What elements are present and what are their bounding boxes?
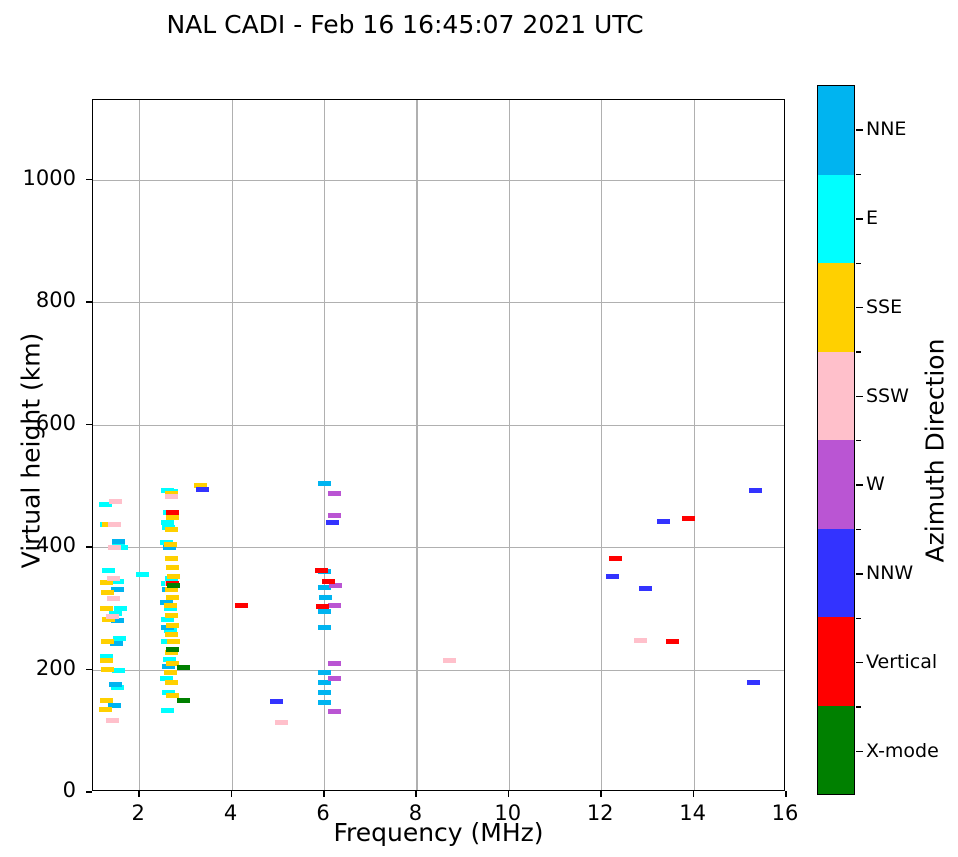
y-axis-tick-label: 0 (6, 778, 76, 802)
scatter-point (634, 638, 647, 643)
scatter-point (318, 700, 331, 705)
scatter-point (639, 586, 652, 591)
scatter-point (101, 667, 114, 672)
scatter-point (164, 603, 177, 608)
scatter-point (106, 718, 119, 723)
scatter-point (270, 699, 283, 704)
colorbar-boundary-tick (856, 351, 861, 352)
scatter-point (112, 668, 125, 673)
colorbar-label-ssw: SSW (866, 385, 909, 407)
colorbar-tick (856, 218, 863, 220)
scatter-point (100, 698, 113, 703)
colorbar-segment-ssw (818, 352, 854, 441)
scatter-point (318, 481, 331, 486)
y-axis-tick (86, 179, 92, 181)
scatter-point (443, 658, 456, 663)
colorbar-label-nne: NNE (866, 118, 906, 140)
scatter-point (322, 579, 335, 584)
scatter-point (165, 494, 178, 499)
colorbar-segment-sse (818, 263, 854, 352)
y-axis-title: Virtual height (km) (17, 301, 46, 601)
scatter-point (609, 556, 622, 561)
scatter-point (606, 574, 619, 579)
scatter-point (177, 698, 190, 703)
scatter-point (99, 707, 112, 712)
colorbar-tick (856, 662, 863, 664)
colorbar-label-nnw: NNW (866, 562, 913, 584)
scatter-point (166, 515, 179, 520)
x-axis-tick (415, 791, 417, 797)
scatter-point (328, 513, 341, 518)
scatter-point (328, 603, 341, 608)
scatter-point (166, 623, 179, 628)
scatter-point (112, 539, 125, 544)
scatter-point (109, 682, 122, 687)
colorbar-segment-e (818, 175, 854, 264)
scatter-point (682, 516, 695, 521)
x-axis-tick (323, 791, 325, 797)
colorbar (817, 85, 855, 795)
x-axis-tick (600, 791, 602, 797)
scatter-point (167, 639, 180, 644)
scatter-point (318, 609, 331, 614)
colorbar-boundary-tick (856, 529, 861, 530)
colorbar-label-vertical: Vertical (866, 651, 937, 673)
scatter-point (747, 680, 760, 685)
y-axis-tick (86, 301, 92, 303)
scatter-point (102, 568, 115, 573)
scatter-point (165, 680, 178, 685)
scatter-point (749, 488, 762, 493)
scatter-point (319, 595, 332, 600)
colorbar-boundary-tick (856, 174, 861, 175)
y-axis-tick (86, 669, 92, 671)
colorbar-label-x-mode: X-mode (866, 740, 939, 762)
scatter-point (164, 542, 177, 547)
x-axis-tick (231, 791, 233, 797)
scatter-point (165, 613, 178, 618)
scatter-point (657, 519, 670, 524)
y-axis-tick (86, 424, 92, 426)
scatter-point (167, 574, 180, 579)
y-axis-tick (86, 791, 92, 793)
scatter-point (326, 520, 339, 525)
colorbar-label-e: E (866, 207, 878, 229)
scatter-point (114, 606, 127, 611)
scatter-point (161, 617, 174, 622)
scatter-point (328, 661, 341, 666)
colorbar-segment-nne (818, 86, 854, 175)
scatter-point (165, 527, 178, 532)
scatter-point (328, 676, 341, 681)
scatter-point (166, 565, 179, 570)
colorbar-tick (856, 396, 863, 398)
colorbar-boundary-tick (856, 440, 861, 441)
scatter-point (167, 583, 180, 588)
scatter-point (165, 556, 178, 561)
colorbar-title: Azimuth Direction (921, 301, 950, 601)
scatter-point (666, 639, 679, 644)
colorbar-boundary-tick (856, 263, 861, 264)
x-axis-tick (508, 791, 510, 797)
scatter-point (107, 596, 120, 601)
scatter-point (106, 614, 119, 619)
colorbar-segment-w (818, 440, 854, 529)
scatter-point (109, 499, 122, 504)
colorbar-tick (856, 573, 863, 575)
scatter-point (100, 658, 113, 663)
scatter-point (275, 720, 288, 725)
scatter-point (177, 665, 190, 670)
x-axis-title: Frequency (MHz) (92, 818, 785, 847)
scatter-point (101, 639, 114, 644)
scatter-point (164, 670, 177, 675)
scatter-point (318, 625, 331, 630)
ionogram-figure: NAL CADI - Feb 16 16:45:07 2021 UTC 2468… (0, 0, 958, 857)
colorbar-segment-vertical (818, 617, 854, 706)
scatter-point (316, 604, 329, 609)
scatter-point (328, 491, 341, 496)
colorbar-tick (856, 307, 863, 309)
colorbar-segment-nnw (818, 529, 854, 618)
x-axis-tick (693, 791, 695, 797)
scatter-point (100, 606, 113, 611)
scatter-point (166, 510, 179, 515)
scatter-point (315, 568, 328, 573)
scatter-point (101, 590, 114, 595)
scatter-point (235, 603, 248, 608)
y-axis-tick-label: 200 (6, 656, 76, 680)
scatter-point (166, 595, 179, 600)
scatter-point (136, 572, 149, 577)
colorbar-tick (856, 751, 863, 753)
colorbar-label-w: W (866, 473, 885, 495)
colorbar-label-sse: SSE (866, 296, 902, 318)
scatter-points-layer (93, 100, 784, 790)
plot-area (92, 99, 785, 791)
colorbar-tick (856, 129, 863, 131)
scatter-point (166, 647, 179, 652)
scatter-point (108, 545, 121, 550)
scatter-point (161, 708, 174, 713)
scatter-point (196, 487, 209, 492)
scatter-point (108, 522, 121, 527)
scatter-point (328, 709, 341, 714)
x-axis-tick (785, 791, 787, 797)
y-axis-tick (86, 546, 92, 548)
scatter-point (318, 690, 331, 695)
colorbar-segment-x-mode (818, 706, 854, 795)
scatter-point (107, 576, 120, 581)
figure-title: NAL CADI - Feb 16 16:45:07 2021 UTC (0, 10, 810, 39)
y-axis-tick-label: 1000 (6, 166, 76, 190)
x-axis-tick (138, 791, 140, 797)
scatter-point (318, 670, 331, 675)
scatter-point (318, 680, 331, 685)
colorbar-tick (856, 484, 863, 486)
scatter-point (165, 587, 178, 592)
colorbar-boundary-tick (856, 618, 861, 619)
scatter-point (165, 632, 178, 637)
colorbar-boundary-tick (856, 706, 861, 707)
